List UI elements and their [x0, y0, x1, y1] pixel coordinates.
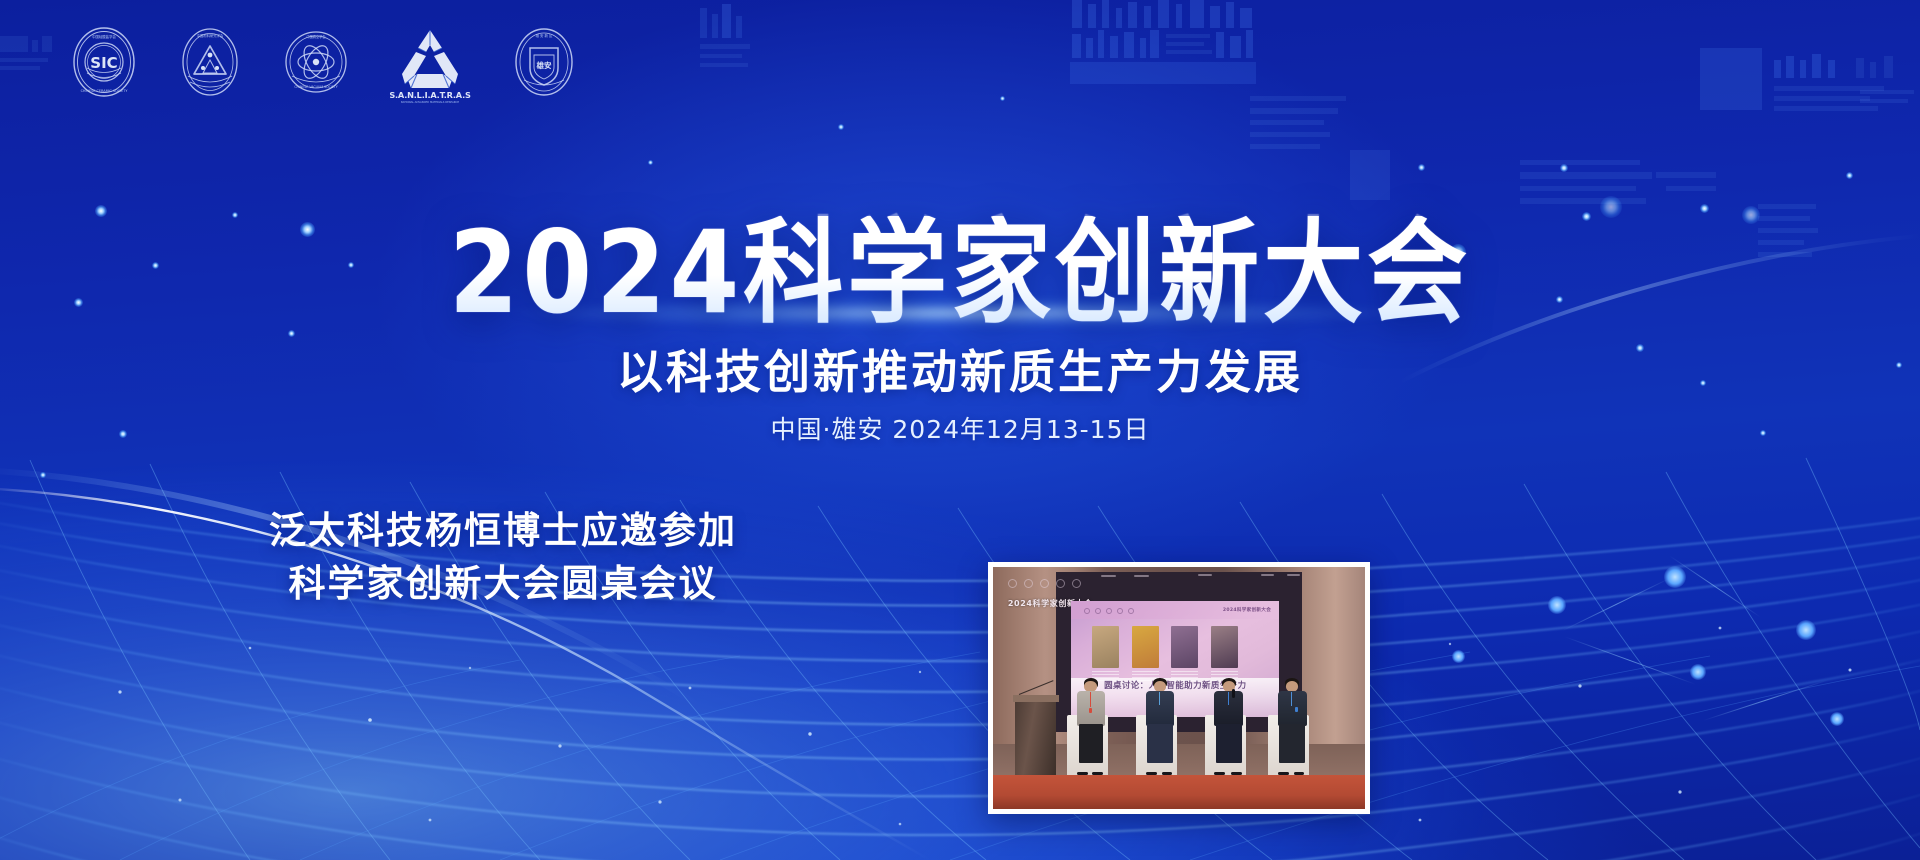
svg-text:雄 安 新 区: 雄 安 新 区: [536, 33, 553, 38]
podium: [1015, 695, 1056, 775]
location-date-line: 中国·雄安 2024年12月13-15日: [0, 410, 1920, 446]
logo-shield-circle-emblem: 雄安 雄 安 新 区: [506, 18, 582, 104]
logo-sic-text: SIC: [90, 54, 117, 72]
page-title: 2024科学家创新大会: [0, 216, 1920, 330]
logo-sic-emblem: SIC 中国硅酸盐学会 CHINESE CERAMIC SOCIETY: [66, 18, 142, 104]
panelist-4: [1274, 678, 1311, 775]
svg-text:中国材料研究学会: 中国材料研究学会: [197, 33, 224, 38]
svg-text:CHINESE VACUUM SOCIETY: CHINESE VACUUM SOCIETY: [294, 85, 337, 89]
svg-text:中国硅酸盐学会: 中国硅酸盐学会: [92, 34, 116, 39]
conference-poster: SIC 中国硅酸盐学会 CHINESE CERAMIC SOCIETY: [0, 0, 1920, 860]
event-caption: 泛太科技杨恒博士应邀参加 科学家创新大会圆桌会议: [218, 505, 788, 610]
caption-line-1: 泛太科技杨恒博士应邀参加: [218, 505, 788, 558]
handheld-microphone: [1232, 689, 1235, 698]
panelist-3: [1211, 678, 1248, 775]
panelist-2: [1142, 678, 1179, 775]
logo-triangle-seal-emblem: 中国材料研究学会: [172, 18, 248, 104]
logo-sanliatras-text: S.A.N.L.I.A.T.R.A.S: [389, 90, 471, 100]
logo-atom-seal-emblem: 中国真空学会 CHINESE VACUUM SOCIETY: [278, 18, 354, 104]
poster-subtitle: 以科技创新推动新质生产力发展: [0, 336, 1920, 402]
hall-logo-icons: [1008, 579, 1081, 588]
sponsor-logo-bar: SIC 中国硅酸盐学会 CHINESE CERAMIC SOCIETY: [66, 18, 582, 104]
panelist-1: [1073, 678, 1110, 775]
logo-sanliatras-triangle: S.A.N.L.I.A.T.R.A.S NATIONAL ADVANCED MA…: [384, 18, 476, 104]
caption-line-2: 科学家创新大会圆桌会议: [218, 558, 788, 611]
svg-text:中国真空学会: 中国真空学会: [306, 34, 326, 39]
svg-text:CHINESE CERAMIC SOCIETY: CHINESE CERAMIC SOCIETY: [81, 89, 129, 93]
svg-text:NATIONAL ADVANCED MATERIALS RE: NATIONAL ADVANCED MATERIALS RESEARCH: [401, 100, 459, 104]
screen-logo-icons: [1084, 608, 1134, 614]
svg-text:雄安: 雄安: [536, 60, 552, 70]
roundtable-panel-photo: 2024科学家创新大会 2024科学家创新大会 圆桌讨论：人工智能助力新质生产力: [988, 562, 1370, 814]
screen-brand-text: 2024科学家创新大会: [1223, 607, 1271, 613]
